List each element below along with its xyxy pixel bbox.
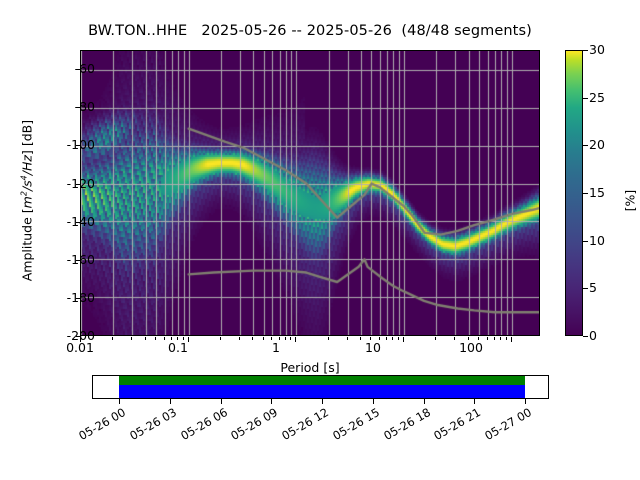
x-tick-mark	[295, 337, 296, 342]
x-tick-mark	[285, 337, 286, 340]
x-tick-mark	[271, 337, 272, 340]
x-tick-mark	[112, 337, 113, 340]
x-tick-mark	[328, 337, 329, 340]
x-tick-mark	[398, 337, 399, 340]
colorbar-tick-label: 10	[589, 233, 605, 248]
x-tick-label: 10	[343, 340, 403, 355]
x-tick-mark	[252, 337, 253, 340]
x-tick-mark	[239, 337, 240, 340]
x-tick-mark	[478, 337, 479, 340]
time-tick-mark	[271, 399, 272, 404]
coverage-blue-segment	[119, 385, 525, 398]
x-tick-mark	[392, 337, 393, 340]
x-tick-label: 0.1	[148, 340, 208, 355]
time-tick-mark	[424, 399, 425, 404]
x-tick-mark	[183, 337, 184, 340]
x-tick-label: 100	[441, 340, 501, 355]
time-tick-mark	[221, 399, 222, 404]
time-tick-label: 05-26 12	[272, 405, 331, 447]
colorbar-tick-label: 0	[589, 328, 597, 343]
x-tick-mark	[220, 337, 221, 340]
x-tick-mark	[360, 337, 361, 340]
x-tick-mark	[494, 337, 495, 340]
colorbar-tick-label: 5	[589, 280, 597, 295]
y-tick-label: -120	[35, 176, 95, 191]
x-tick-label: 1	[246, 340, 306, 355]
colorbar-tick-label: 25	[589, 90, 605, 105]
x-tick-mark	[454, 337, 455, 340]
x-tick-mark	[177, 337, 178, 340]
colorbar	[565, 50, 583, 336]
x-tick-mark	[145, 337, 146, 340]
time-tick-mark	[525, 399, 526, 404]
x-tick-mark	[155, 337, 156, 340]
x-tick-mark	[500, 337, 501, 340]
time-tick-mark	[119, 399, 120, 404]
colorbar-tick-label: 15	[589, 185, 605, 200]
time-tick-label: 05-26 18	[374, 405, 433, 447]
ppsd-density-canvas	[81, 51, 539, 335]
x-tick-mark	[347, 337, 348, 340]
ppsd-plot-area	[80, 50, 540, 336]
x-tick-mark	[435, 337, 436, 340]
ppsd-figure: BW.TON..HHE 2025-05-26 -- 2025-05-26 (48…	[0, 0, 640, 480]
x-tick-mark	[80, 337, 81, 342]
coverage-green-segment	[119, 376, 525, 385]
time-tick-label: 05-26 00	[69, 405, 128, 447]
x-tick-mark	[370, 337, 371, 340]
colorbar-label: [%]	[623, 141, 638, 261]
time-tick-label: 05-26 15	[323, 405, 382, 447]
y-tick-label: -100	[35, 137, 95, 152]
x-tick-mark	[131, 337, 132, 340]
page-title: BW.TON..HHE 2025-05-26 -- 2025-05-26 (48…	[0, 23, 620, 39]
x-tick-mark	[263, 337, 264, 340]
data-coverage-bar	[92, 375, 549, 399]
x-tick-mark	[171, 337, 172, 340]
x-tick-mark	[290, 337, 291, 340]
x-tick-mark	[506, 337, 507, 340]
y-axis-label: Amplitude [m2/s4/Hz] [dB]	[19, 51, 34, 351]
x-tick-mark	[468, 337, 469, 340]
coverage-fill	[119, 376, 525, 398]
y-tick-label: -140	[35, 214, 95, 229]
time-tick-mark	[373, 399, 374, 404]
time-tick-label: 05-26 06	[171, 405, 230, 447]
colorbar-tick-label: 30	[589, 42, 605, 57]
time-tick-label: 05-27 00	[475, 405, 534, 447]
x-tick-mark	[511, 337, 512, 342]
time-tick-label: 05-26 21	[424, 405, 483, 447]
x-axis-label: Period [s]	[80, 360, 540, 375]
y-tick-label: -60	[35, 61, 95, 76]
colorbar-tick-label: 20	[589, 137, 605, 152]
x-tick-mark	[386, 337, 387, 340]
x-tick-mark	[279, 337, 280, 340]
x-tick-mark	[379, 337, 380, 340]
y-tick-label: -80	[35, 99, 95, 114]
x-tick-mark	[164, 337, 165, 340]
time-tick-label: 05-26 03	[120, 405, 179, 447]
x-tick-mark	[188, 337, 189, 342]
y-tick-label: -180	[35, 290, 95, 305]
x-tick-mark	[487, 337, 488, 340]
x-tick-mark	[403, 337, 404, 342]
time-tick-mark	[170, 399, 171, 404]
y-tick-label: -160	[35, 252, 95, 267]
time-tick-label: 05-26 09	[221, 405, 280, 447]
x-tick-label: 0.01	[50, 340, 110, 355]
time-tick-mark	[322, 399, 323, 404]
time-tick-mark	[474, 399, 475, 404]
